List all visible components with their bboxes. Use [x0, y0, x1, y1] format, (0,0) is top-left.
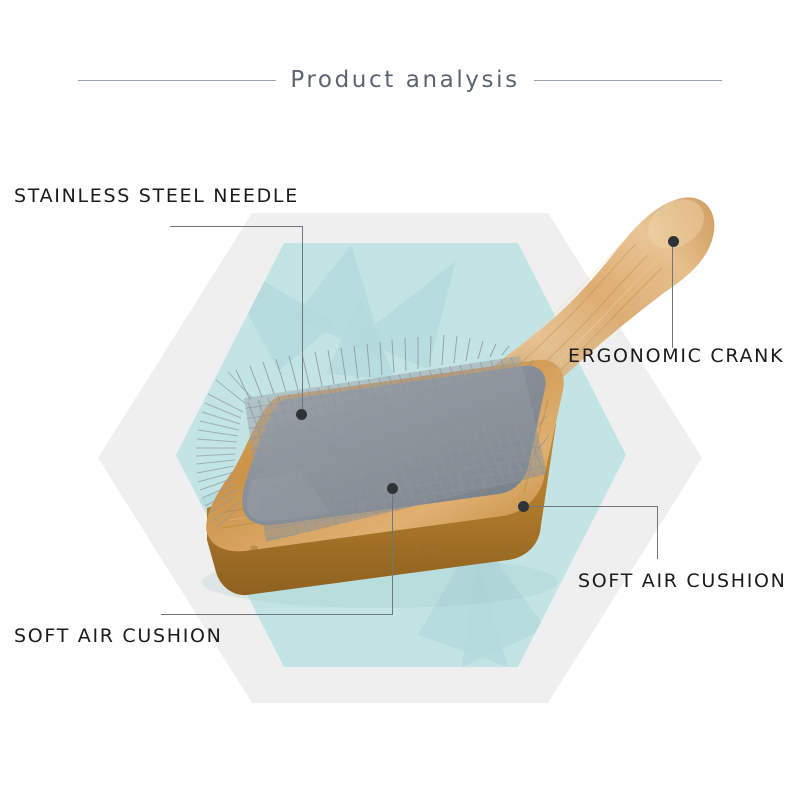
- callout-label-ergonomic-crank: ERGONOMIC CRANK: [568, 345, 784, 367]
- product-image-bamboo-slicker-brush: [0, 0, 800, 800]
- leader-line-vertical-stainless-steel-needle: [302, 226, 303, 416]
- leader-dot-stainless-steel-needle: [296, 409, 307, 420]
- infographic-canvas: Product analysis: [0, 0, 800, 800]
- callout-label-stainless-steel-needle: STAINLESS STEEL NEEDLE: [14, 185, 299, 207]
- leader-line-horizontal-soft-air-cushion-left: [161, 614, 393, 615]
- leader-line-vertical-soft-air-cushion-left: [392, 493, 393, 614]
- callout-label-soft-air-cushion-left: SOFT AIR CUSHION: [14, 625, 223, 647]
- leader-dot-soft-air-cushion-right: [518, 501, 529, 512]
- leader-line-vertical-ergonomic-crank: [672, 246, 673, 348]
- leader-line-vertical-soft-air-cushion-right: [657, 506, 658, 559]
- leader-line-horizontal-stainless-steel-needle: [170, 226, 303, 227]
- leader-line-horizontal-soft-air-cushion-right: [528, 506, 657, 507]
- leader-dot-ergonomic-crank: [668, 236, 679, 247]
- callout-label-soft-air-cushion-right: SOFT AIR CUSHION: [578, 570, 787, 592]
- leader-dot-soft-air-cushion-left: [387, 483, 398, 494]
